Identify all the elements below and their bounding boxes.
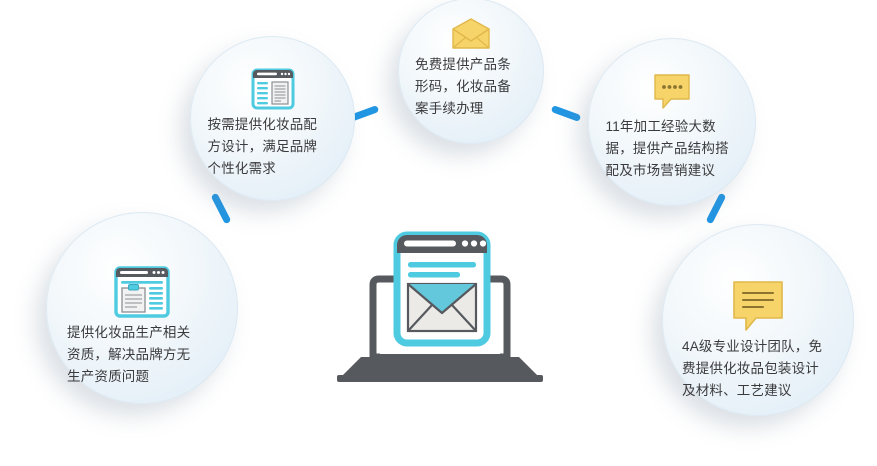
node-experience-data[interactable]: 11年加工经验大数 据，提供产品结构搭 配及市场营销建议	[588, 38, 756, 206]
browser-clipboard-icon	[46, 212, 238, 320]
envelope-icon	[398, 0, 544, 50]
node-formula-design-label: 按需提供化妆品配 方设计，满足品牌 个性化需求	[208, 114, 338, 180]
speech-bubble-lines-icon	[662, 224, 854, 336]
laptop-email-illustration	[325, 225, 555, 390]
node-production-license[interactable]: 提供化妆品生产相关 资质，解决品牌方无 生产资质问题	[46, 212, 238, 404]
node-experience-data-label: 11年加工经验大数 据，提供产品结构搭 配及市场营销建议	[606, 116, 739, 182]
node-barcode-filing-label: 免费提供产品条 形码，化妆品备 案手续办理	[415, 54, 527, 120]
node-production-license-label: 提供化妆品生产相关 资质，解决品牌方无 生产资质问题	[67, 322, 217, 388]
diagram-canvas: 免费提供产品条 形码，化妆品备 案手续办理	[0, 0, 877, 466]
speech-bubble-dots-icon	[588, 38, 756, 114]
node-barcode-filing[interactable]: 免费提供产品条 形码，化妆品备 案手续办理	[398, 0, 544, 144]
browser-document-icon	[190, 36, 355, 112]
connector-barcode-to-experience	[551, 105, 582, 122]
node-package-design[interactable]: 4A级专业设计团队，免 费提供化妆品包装设计 及材料、工艺建议	[662, 224, 854, 416]
node-formula-design[interactable]: 按需提供化妆品配 方设计，满足品牌 个性化需求	[190, 36, 355, 201]
node-package-design-label: 4A级专业设计团队，免 费提供化妆品包装设计 及材料、工艺建议	[682, 336, 834, 402]
